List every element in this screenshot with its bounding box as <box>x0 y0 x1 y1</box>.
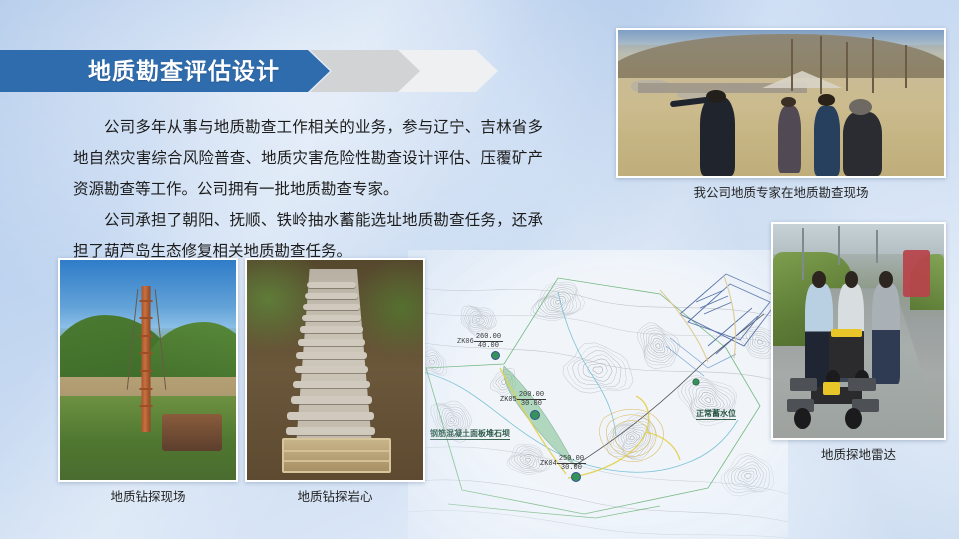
borehole-elev-zk05: 200.00 <box>517 391 546 400</box>
rig-rung <box>140 317 153 319</box>
rock-core <box>302 315 362 321</box>
photo-person-head <box>818 94 834 106</box>
gpr-yellow-panel <box>823 382 840 395</box>
borehole-marker-zk05 <box>530 410 540 420</box>
gpr-antenna-pad <box>848 378 875 391</box>
borehole-depth-zk06: 40.00 <box>474 342 503 350</box>
photo-core <box>245 258 425 482</box>
photo-experts <box>616 28 946 178</box>
rock-core <box>298 339 365 346</box>
figure-experts: 我公司地质专家在地质勘查现场 <box>616 28 946 178</box>
photo-utility-pole <box>838 226 840 265</box>
drill-rig-machinery <box>162 414 222 451</box>
photo-person-head <box>879 271 893 288</box>
photo-tree <box>791 39 793 92</box>
borehole-label-zk06: ZK06260.0040.00 <box>457 333 503 350</box>
borehole-marker-zk06 <box>491 351 500 360</box>
photo-person <box>814 106 840 176</box>
photo-utility-pole <box>876 230 878 262</box>
figure-core: 地质钻探岩心 <box>245 258 425 482</box>
borehole-label-zk05: ZK05200.0030.00 <box>500 391 546 408</box>
gpr-wheel <box>794 408 811 429</box>
borehole-label-zk04: ZK04250.0030.00 <box>540 455 586 472</box>
title-banner: 地质勘查评估设计 <box>0 50 440 92</box>
borehole-elev-zk06: 260.00 <box>474 333 503 342</box>
photo-person <box>778 106 801 173</box>
rock-core <box>307 282 356 288</box>
photo-drill <box>58 258 238 482</box>
rock-core <box>305 293 358 299</box>
borehole-name-zk04: ZK04 <box>540 460 557 468</box>
topographic-map: ZK06260.0040.00 ZK05200.0030.00 ZK04250.… <box>408 250 788 539</box>
borehole-elev-zk04: 250.00 <box>557 455 586 464</box>
borehole-depth-zk04: 30.00 <box>557 464 586 472</box>
map-label-water-level: 正常蓄水位 <box>696 408 736 420</box>
rig-rung <box>140 352 153 354</box>
rock-core <box>293 381 370 388</box>
rig-rung <box>140 370 153 372</box>
figure-drill: 地质钻探现场 <box>58 258 238 482</box>
figure-caption-radar: 地质探地雷达 <box>771 444 946 463</box>
borehole-name-zk05: ZK05 <box>500 396 517 404</box>
rig-rung <box>140 405 153 407</box>
figure-caption-core: 地质钻探岩心 <box>245 486 425 505</box>
photo-person-head <box>706 90 726 103</box>
photo-person <box>700 97 736 176</box>
rig-rung <box>140 300 153 302</box>
page-title: 地质勘查评估设计 <box>88 50 280 92</box>
photo-tree <box>820 36 822 94</box>
drill-rig-tower <box>142 286 151 431</box>
photo-radar <box>771 222 946 440</box>
paragraph-1: 公司多年从事与地质勘查工作相关的业务，参与辽宁、吉林省多地自然灾害综合风险普查、… <box>73 112 543 205</box>
slide-canvas: 地质勘查评估设计 公司多年从事与地质勘查工作相关的业务，参与辽宁、吉林省多地自然… <box>0 0 959 539</box>
figure-caption-drill: 地质钻探现场 <box>58 486 238 505</box>
photo-tree <box>905 45 907 89</box>
figure-caption-experts: 我公司地质专家在地质勘查现场 <box>616 182 946 201</box>
photo-person <box>843 112 882 176</box>
rock-core <box>295 366 369 373</box>
rock-core <box>296 352 366 359</box>
map-contours <box>408 250 788 539</box>
rock-core <box>291 396 372 403</box>
rock-core <box>300 326 363 333</box>
borehole-marker-zk04 <box>571 472 581 482</box>
photo-person-head <box>849 99 872 115</box>
rock-core <box>286 427 376 435</box>
rock-core <box>287 412 373 420</box>
rock-core <box>303 304 359 310</box>
gpr-antenna-pad <box>790 378 817 391</box>
borehole-depth-zk05: 30.00 <box>517 400 546 408</box>
figure-radar: 地质探地雷达 <box>771 222 946 440</box>
photo-person <box>872 284 899 385</box>
photo-tree <box>846 42 848 92</box>
core-box-divider <box>284 450 389 452</box>
borehole-name-zk06: ZK06 <box>457 338 474 346</box>
rig-rung <box>140 388 153 390</box>
photo-utility-pole <box>802 228 804 279</box>
body-text: 公司多年从事与地质勘查工作相关的业务，参与辽宁、吉林省多地自然灾害综合风险普查、… <box>73 112 543 267</box>
gpr-yellow-panel <box>831 329 862 338</box>
rig-rung <box>140 335 153 337</box>
core-box <box>282 438 391 473</box>
photo-tree <box>872 37 874 92</box>
photo-signboard <box>903 250 930 297</box>
map-label-dam: 钢筋混凝土面板堆石坝 <box>430 428 510 440</box>
core-box-divider <box>284 460 389 462</box>
